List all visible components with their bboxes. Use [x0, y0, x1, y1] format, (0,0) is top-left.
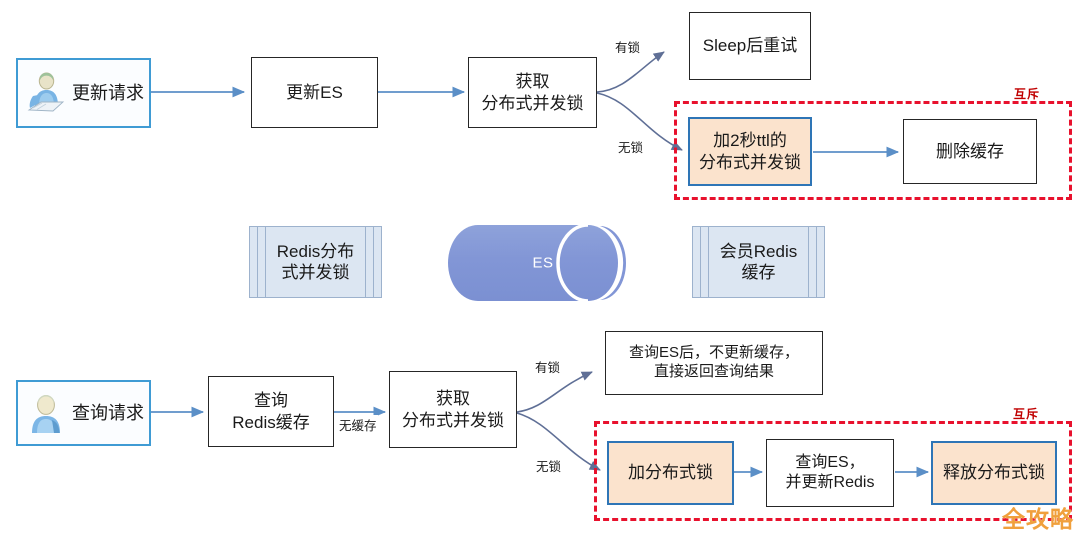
query-es-return-box[interactable]: 查询ES后，不更新缓存， 直接返回查询结果 — [605, 331, 823, 395]
add-ttl-lock-label: 加2秒ttl的 分布式并发锁 — [699, 130, 801, 173]
query-es-update-redis-label: 查询ES， 并更新Redis — [786, 453, 875, 493]
release-lock-box[interactable]: 释放分布式锁 — [931, 441, 1057, 505]
release-lock-label: 释放分布式锁 — [943, 462, 1045, 483]
update-es-label: 更新ES — [286, 82, 343, 103]
mutex-label-update: 互斥 — [1014, 85, 1040, 102]
add-lock-label: 加分布式锁 — [628, 462, 713, 483]
user-avatar-icon — [26, 390, 66, 436]
query-request-actor[interactable]: 查询请求 — [16, 380, 151, 446]
edge-label-no-lock-update: 无锁 — [617, 137, 644, 156]
add-lock-box[interactable]: 加分布式锁 — [607, 441, 734, 505]
delete-cache-label: 删除缓存 — [936, 141, 1004, 162]
es-store[interactable]: ES — [468, 222, 618, 304]
member-redis-cache-label: 会员Redis 缓存 — [704, 241, 813, 284]
acquire-lock-2-label: 获取 分布式并发锁 — [402, 388, 504, 431]
query-es-update-redis-box[interactable]: 查询ES， 并更新Redis — [766, 439, 894, 507]
edge-label-has-lock-update: 有锁 — [614, 37, 641, 56]
user-at-computer-icon — [26, 70, 66, 116]
redis-lock-store-label: Redis分布 式并发锁 — [261, 241, 370, 284]
update-es-box[interactable]: 更新ES — [251, 57, 378, 128]
edge-label-no-lock-query: 无锁 — [535, 456, 562, 475]
es-store-label: ES — [468, 255, 618, 272]
edge-label-no-cache: 无缓存 — [338, 415, 378, 434]
query-es-return-label: 查询ES后，不更新缓存， 直接返回查询结果 — [629, 344, 799, 382]
update-request-actor[interactable]: 更新请求 — [16, 58, 151, 128]
mutex-label-query: 互斥 — [1013, 405, 1039, 422]
acquire-lock-box-2[interactable]: 获取 分布式并发锁 — [389, 371, 517, 448]
query-redis-cache-box[interactable]: 查询 Redis缓存 — [208, 376, 334, 447]
sleep-retry-label: Sleep后重试 — [703, 35, 797, 56]
member-redis-cache-store[interactable]: 会员Redis 缓存 — [692, 226, 825, 298]
redis-lock-store[interactable]: Redis分布 式并发锁 — [249, 226, 382, 298]
acquire-lock-box[interactable]: 获取 分布式并发锁 — [468, 57, 597, 128]
add-ttl-lock-box[interactable]: 加2秒ttl的 分布式并发锁 — [688, 117, 812, 186]
sleep-retry-box[interactable]: Sleep后重试 — [689, 12, 811, 80]
flowchart-canvas: 更新请求 更新ES 获取 分布式并发锁 Sleep后重试 互斥 加2秒ttl的 … — [0, 0, 1080, 533]
query-request-label: 查询请求 — [72, 402, 144, 425]
update-request-label: 更新请求 — [72, 82, 144, 105]
acquire-lock-label: 获取 分布式并发锁 — [482, 71, 584, 114]
watermark-label: 全攻略 — [1002, 500, 1074, 533]
query-redis-cache-label: 查询 Redis缓存 — [232, 390, 309, 433]
delete-cache-box[interactable]: 删除缓存 — [903, 119, 1037, 184]
edge-label-has-lock-query: 有锁 — [534, 357, 561, 376]
